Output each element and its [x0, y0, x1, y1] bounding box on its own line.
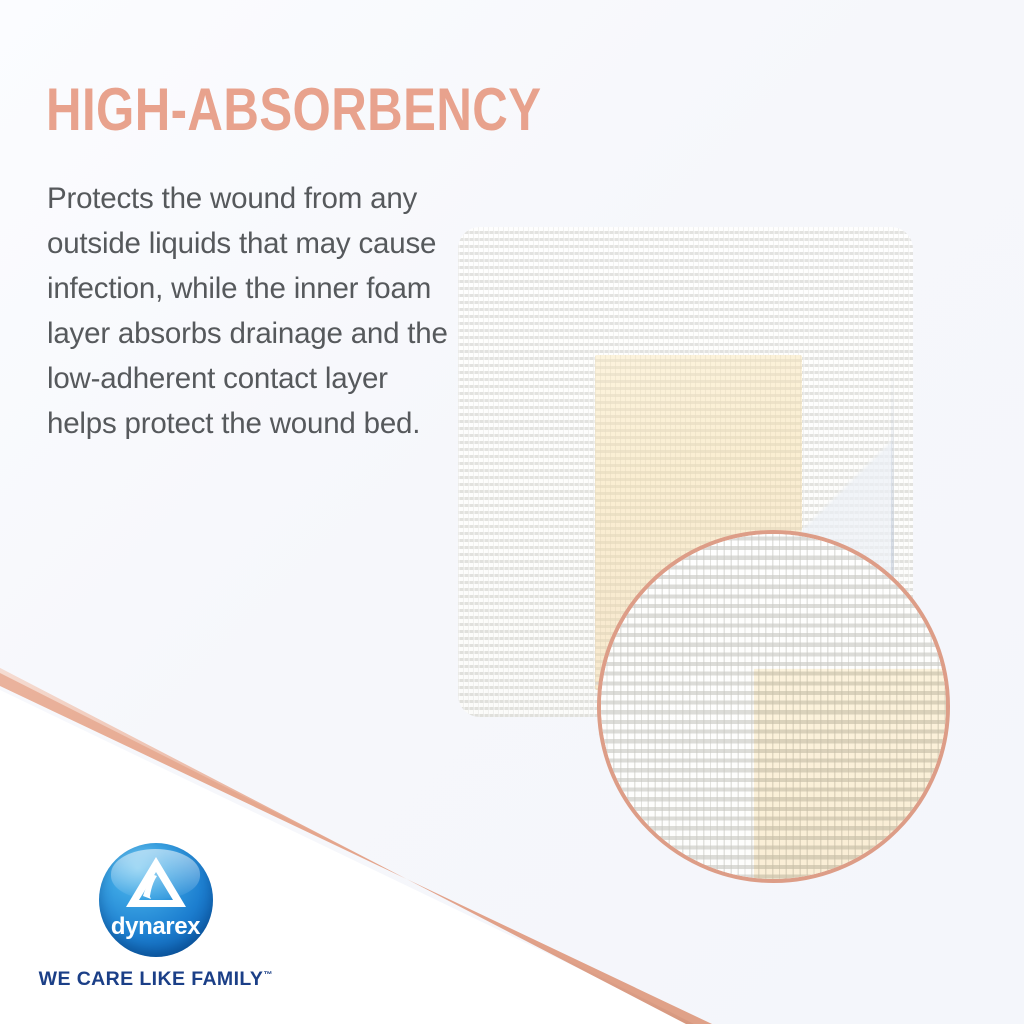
poster-canvas: HIGH-ABSORBENCY Protects the wound from …	[0, 0, 1024, 1024]
magnifier-content	[597, 530, 950, 883]
dynarex-delta-icon	[124, 855, 188, 913]
trademark-symbol: ™	[263, 970, 272, 980]
tagline-text: WE CARE LIKE FAMILY	[39, 968, 264, 990]
logo-circle: dynarex	[99, 843, 213, 957]
body-paragraph: Protects the wound from any outside liqu…	[47, 176, 457, 446]
logo-wordmark: dynarex	[99, 913, 213, 941]
detail-magnifier	[597, 530, 950, 883]
magnified-nonwoven-texture	[597, 530, 950, 883]
page-title: HIGH-ABSORBENCY	[46, 80, 541, 140]
brand-tagline: WE CARE LIKE FAMILY™	[38, 968, 273, 991]
brand-logo: dynarex WE CARE LIKE FAMILY™	[38, 843, 273, 991]
